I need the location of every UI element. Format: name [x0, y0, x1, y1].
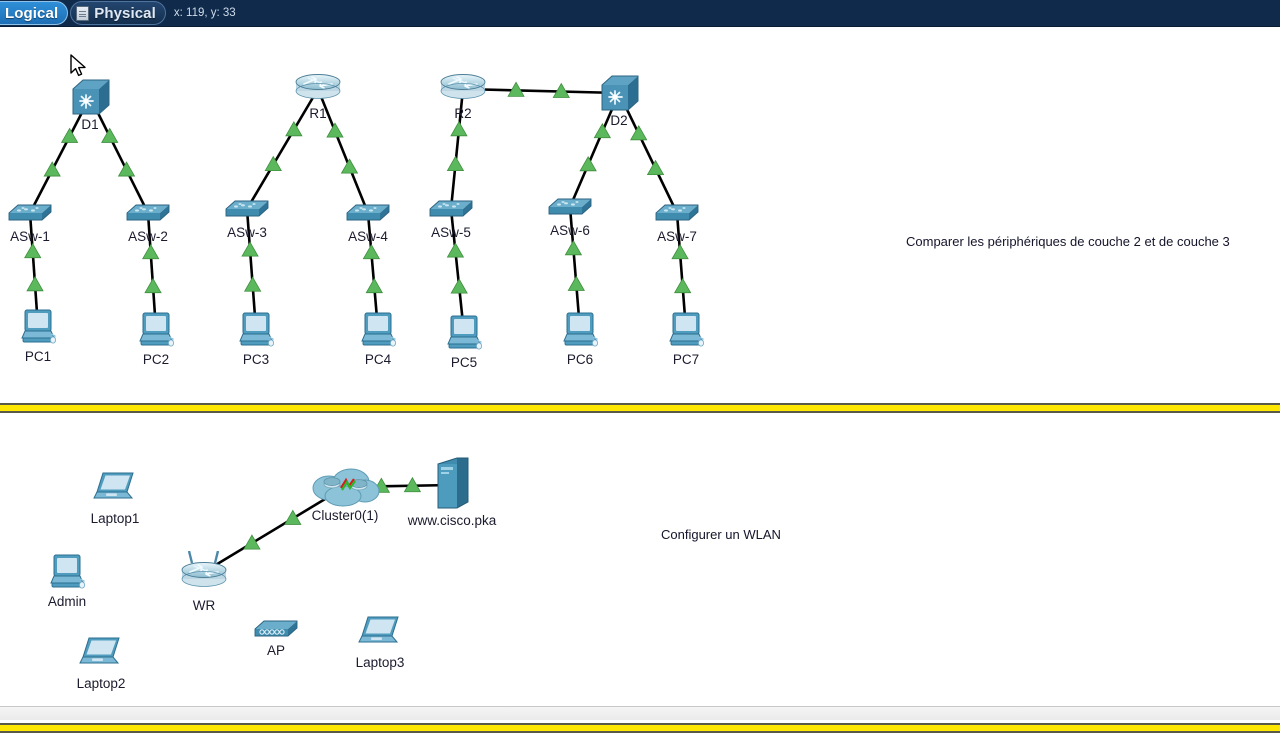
link-status-indicator	[62, 128, 78, 142]
note-layer: Comparer les périphériques de couche 2 e…	[906, 234, 1230, 249]
tab-physical[interactable]: Physical	[70, 1, 166, 25]
router-icon	[439, 73, 487, 110]
link-status-indicator	[451, 122, 467, 136]
laptop-icon	[358, 615, 402, 652]
device-label: D1	[81, 117, 98, 132]
switch-icon	[125, 201, 171, 230]
link-status-indicator	[245, 277, 261, 291]
link-status-indicator	[580, 157, 596, 171]
link-status-indicator	[675, 279, 691, 293]
link-status-indicator	[363, 245, 379, 259]
link-status-indicator	[25, 244, 41, 258]
pc-icon	[138, 311, 174, 354]
device-label: ASw-6	[550, 223, 590, 238]
device-label: Admin	[48, 594, 86, 609]
link-status-indicator	[447, 243, 463, 257]
link-status-indicator	[285, 510, 301, 524]
note-wlan: Configurer un WLAN	[661, 527, 781, 542]
device-label: ASw-1	[10, 229, 50, 244]
divider-bottom	[0, 723, 1280, 733]
device-label: ASw-2	[128, 229, 168, 244]
link-status-indicator	[342, 159, 358, 173]
device-label: R1	[309, 106, 326, 121]
device-label: Laptop3	[356, 655, 405, 670]
switch-icon	[654, 201, 700, 230]
device-label: PC5	[451, 355, 477, 370]
pc-icon	[20, 308, 56, 351]
pc-icon	[668, 311, 704, 354]
device-label: R2	[454, 106, 471, 121]
device-label: D2	[610, 113, 627, 128]
device-label: WR	[193, 598, 216, 613]
device-label: www.cisco.pka	[408, 513, 497, 528]
device-label: ASw-5	[431, 225, 471, 240]
wireless-router-icon	[180, 551, 228, 598]
link-status-indicator	[286, 122, 302, 136]
server-icon	[435, 456, 469, 519]
pc-icon	[562, 311, 598, 354]
device-label: PC3	[243, 352, 269, 367]
cloud-icon	[309, 466, 381, 513]
link-status-indicator	[672, 245, 688, 259]
router-icon	[294, 73, 342, 110]
link-status-indicator	[447, 157, 463, 171]
link-status-indicator	[27, 277, 43, 291]
device-label: AP	[267, 643, 285, 658]
tab-physical-label: Physical	[94, 5, 156, 22]
link-status-indicator	[44, 162, 60, 176]
device-label: PC6	[567, 352, 593, 367]
link-status-indicator	[242, 242, 258, 256]
link-status-indicator	[265, 157, 281, 171]
link-status-indicator	[631, 126, 647, 140]
mouse-cursor	[70, 54, 90, 80]
top-toolbar: Logical Physical x: 119, y: 33	[0, 0, 1280, 27]
switch-icon	[547, 195, 593, 224]
device-label: ASw-4	[348, 229, 388, 244]
pc-icon	[446, 314, 482, 357]
laptop-icon	[93, 471, 137, 508]
link-status-indicator	[648, 161, 664, 175]
cursor-coordinates: x: 119, y: 33	[174, 7, 236, 19]
link-status-indicator	[594, 124, 610, 138]
device-label: Laptop2	[77, 676, 126, 691]
device-label: ASw-7	[657, 229, 697, 244]
workspace-canvas[interactable]: D1 R1 R2	[0, 27, 1280, 720]
pc-icon	[238, 311, 274, 354]
building-icon	[76, 6, 89, 21]
link-status-indicator	[143, 245, 159, 259]
tab-logical-label: Logical	[5, 5, 58, 22]
link-status-indicator	[451, 279, 467, 293]
switch-icon	[345, 201, 391, 230]
link-status-indicator	[366, 279, 382, 293]
switch-icon	[7, 201, 53, 230]
bottom-status-strip	[0, 706, 1280, 720]
multilayer-switch-icon	[598, 73, 640, 118]
pc-icon	[360, 311, 396, 354]
link-status-indicator	[244, 535, 260, 549]
device-label: Cluster0(1)	[312, 508, 379, 523]
device-label: PC2	[143, 352, 169, 367]
divider-top	[0, 403, 1280, 413]
multilayer-switch-icon	[69, 77, 111, 122]
link-status-indicator	[568, 276, 584, 290]
link-layer	[0, 27, 1280, 720]
device-label: PC4	[365, 352, 391, 367]
link-status-indicator	[119, 162, 135, 176]
pc-icon	[49, 553, 85, 596]
access-point-icon	[253, 617, 299, 646]
link-status-indicator	[102, 128, 118, 142]
device-label: ASw-3	[227, 225, 267, 240]
link-status-indicator	[145, 279, 161, 293]
switch-icon	[224, 197, 270, 226]
device-label: PC1	[25, 349, 51, 364]
tab-logical[interactable]: Logical	[0, 1, 68, 25]
switch-icon	[428, 197, 474, 226]
device-label: PC7	[673, 352, 699, 367]
device-label: Laptop1	[91, 511, 140, 526]
laptop-icon	[79, 636, 123, 673]
link-status-indicator	[565, 241, 581, 255]
link-status-indicator	[327, 123, 343, 137]
